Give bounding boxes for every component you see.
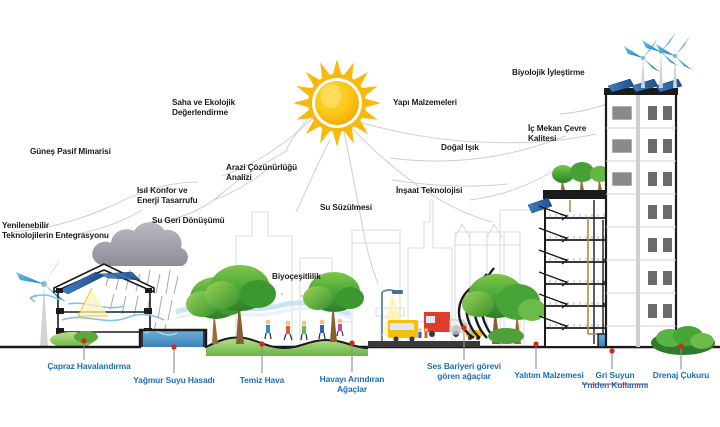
label-biyocesitlilik: Biyoçeşitlilik xyxy=(272,272,321,282)
label-havayi-arindiran-agaclar: Havayı Arındıran Ağaçlar xyxy=(300,375,404,395)
label-yapi-malzemeleri: Yapı Malzemeleri xyxy=(393,98,457,108)
rain-drops xyxy=(106,270,178,338)
label-gunes-pasif-mimarisi: Güneş Pasif Mimarisi xyxy=(30,147,111,157)
label-biyolojik-iylestirme: Biyolojik İyleştirme xyxy=(512,68,585,78)
bus xyxy=(388,320,418,342)
label-capraz-havalandirma: Çapraz Havalandırma xyxy=(14,362,164,372)
label-su-suzulmesi: Su Süzülmesi xyxy=(320,203,372,213)
label-yenilenebilir-teknolojiler: Yenilenebilir Teknolojilerin Entegrasyon… xyxy=(2,221,109,240)
sun-icon xyxy=(293,59,381,147)
solar-wind-tower xyxy=(604,32,692,347)
label-temiz-hava: Temiz Hava xyxy=(212,376,312,386)
label-drenaj-cukuru: Drenaj Çukuru xyxy=(638,371,720,381)
daylight-wedge xyxy=(78,288,108,316)
label-su-geri-donusumu: Su Geri Dönüşümü xyxy=(152,216,225,226)
tower-wind-turbines xyxy=(624,32,692,88)
label-isil-konfor-enerji: Isıl Konfor ve Enerji Tasarrufu xyxy=(137,186,198,205)
pedestrians xyxy=(418,328,428,338)
roof-trees xyxy=(552,162,610,190)
label-insaat-teknolojisi: İnşaat Teknolojisi xyxy=(396,186,462,196)
infographic-canvas: Güneş Pasif Mimarisi Saha ve Ekolojik De… xyxy=(0,0,720,427)
label-arazi-cozunurlugu-analizi: Arazi Çözünürlüğü Analizi xyxy=(226,163,297,182)
label-dogal-isik: Doğal Işık xyxy=(441,143,479,153)
rainwater-cistern xyxy=(142,330,204,347)
tower-louver-windows xyxy=(612,106,632,186)
tree-mid xyxy=(303,272,364,342)
label-saha-ve-ekolojik: Saha ve Ekolojik Değerlendirme xyxy=(172,98,235,117)
label-ic-mekan-cevre-kalitesi: İç Mekan Çevre Kalitesi xyxy=(528,124,586,143)
